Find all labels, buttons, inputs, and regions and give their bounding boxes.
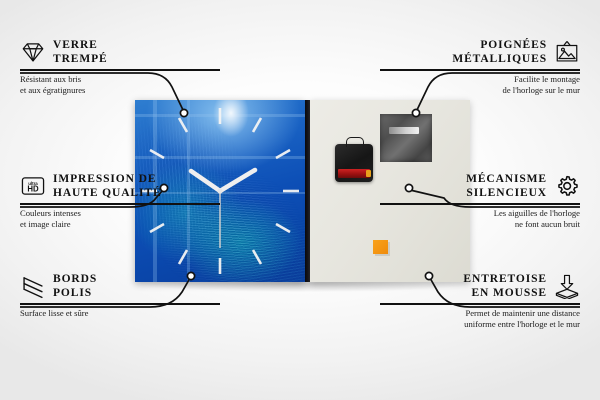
feature-title: BORDSPOLIS [53,272,97,300]
mechanism-hook [346,137,364,147]
feature-rule [380,303,580,305]
feature-header: VERRETREMPÉ [20,38,220,66]
polished-edges-icon [20,273,46,299]
feature-rule [380,69,580,71]
feature-description: Les aiguilles de l'horlogene font aucun … [380,208,580,232]
feature-rule [380,203,580,205]
feature-verre-trempe: VERRETREMPÉ Résistant aux briset aux égr… [20,38,220,97]
diamond-icon [20,39,46,65]
feature-description: Surface lisse et sûre [20,308,220,320]
foam-spacer [373,240,388,254]
feature-bords-polis: BORDSPOLIS Surface lisse et sûre [20,272,220,319]
feature-header: ultra HD IMPRESSION DEHAUTE QUALITÉ [20,172,220,200]
feature-title: ENTRETOISEEN MOUSSE [463,272,547,300]
feature-rule [20,203,220,205]
feature-entretoise-en-mousse: ENTRETOISEEN MOUSSE Permet de maintenir … [380,272,580,331]
feature-description: Permet de maintenir une distanceuniforme… [380,308,580,332]
battery-terminal [366,170,371,177]
gear-icon [554,173,580,199]
feature-header: ENTRETOISEEN MOUSSE [380,272,580,300]
feature-title: VERRETREMPÉ [53,38,108,66]
infographic-canvas: VERRETREMPÉ Résistant aux briset aux égr… [0,0,600,400]
feature-header: MÉCANISMESILENCIEUX [380,172,580,200]
feature-impression-haute-qualite: ultra HD IMPRESSION DEHAUTE QUALITÉ Coul… [20,172,220,231]
feature-header: POIGNÉESMÉTALLIQUES [380,38,580,66]
feature-rule [20,69,220,71]
feature-title: MÉCANISMESILENCIEUX [466,172,547,200]
feature-header: BORDSPOLIS [20,272,220,300]
feature-description: Couleurs intenseset image claire [20,208,220,232]
feature-poignees-metalliques: POIGNÉESMÉTALLIQUES Facilite le montaged… [380,38,580,97]
feature-rule [20,303,220,305]
svg-text:HD: HD [27,185,39,194]
feature-title: POIGNÉESMÉTALLIQUES [452,38,547,66]
hanger-slot [389,127,419,134]
ultra-hd-badge-icon: ultra HD [20,173,46,199]
clock-mechanism [335,144,373,182]
metal-hanger-plate [380,114,432,162]
feature-description: Résistant aux briset aux égratignures [20,74,220,98]
framed-picture-hanger-icon [554,39,580,65]
feature-mecanisme-silencieux: MÉCANISMESILENCIEUX Les aiguilles de l'h… [380,172,580,231]
foam-spacer-arrow-icon [554,273,580,299]
feature-description: Facilite le montagede l'horloge sur le m… [380,74,580,98]
feature-title: IMPRESSION DEHAUTE QUALITÉ [53,172,162,200]
